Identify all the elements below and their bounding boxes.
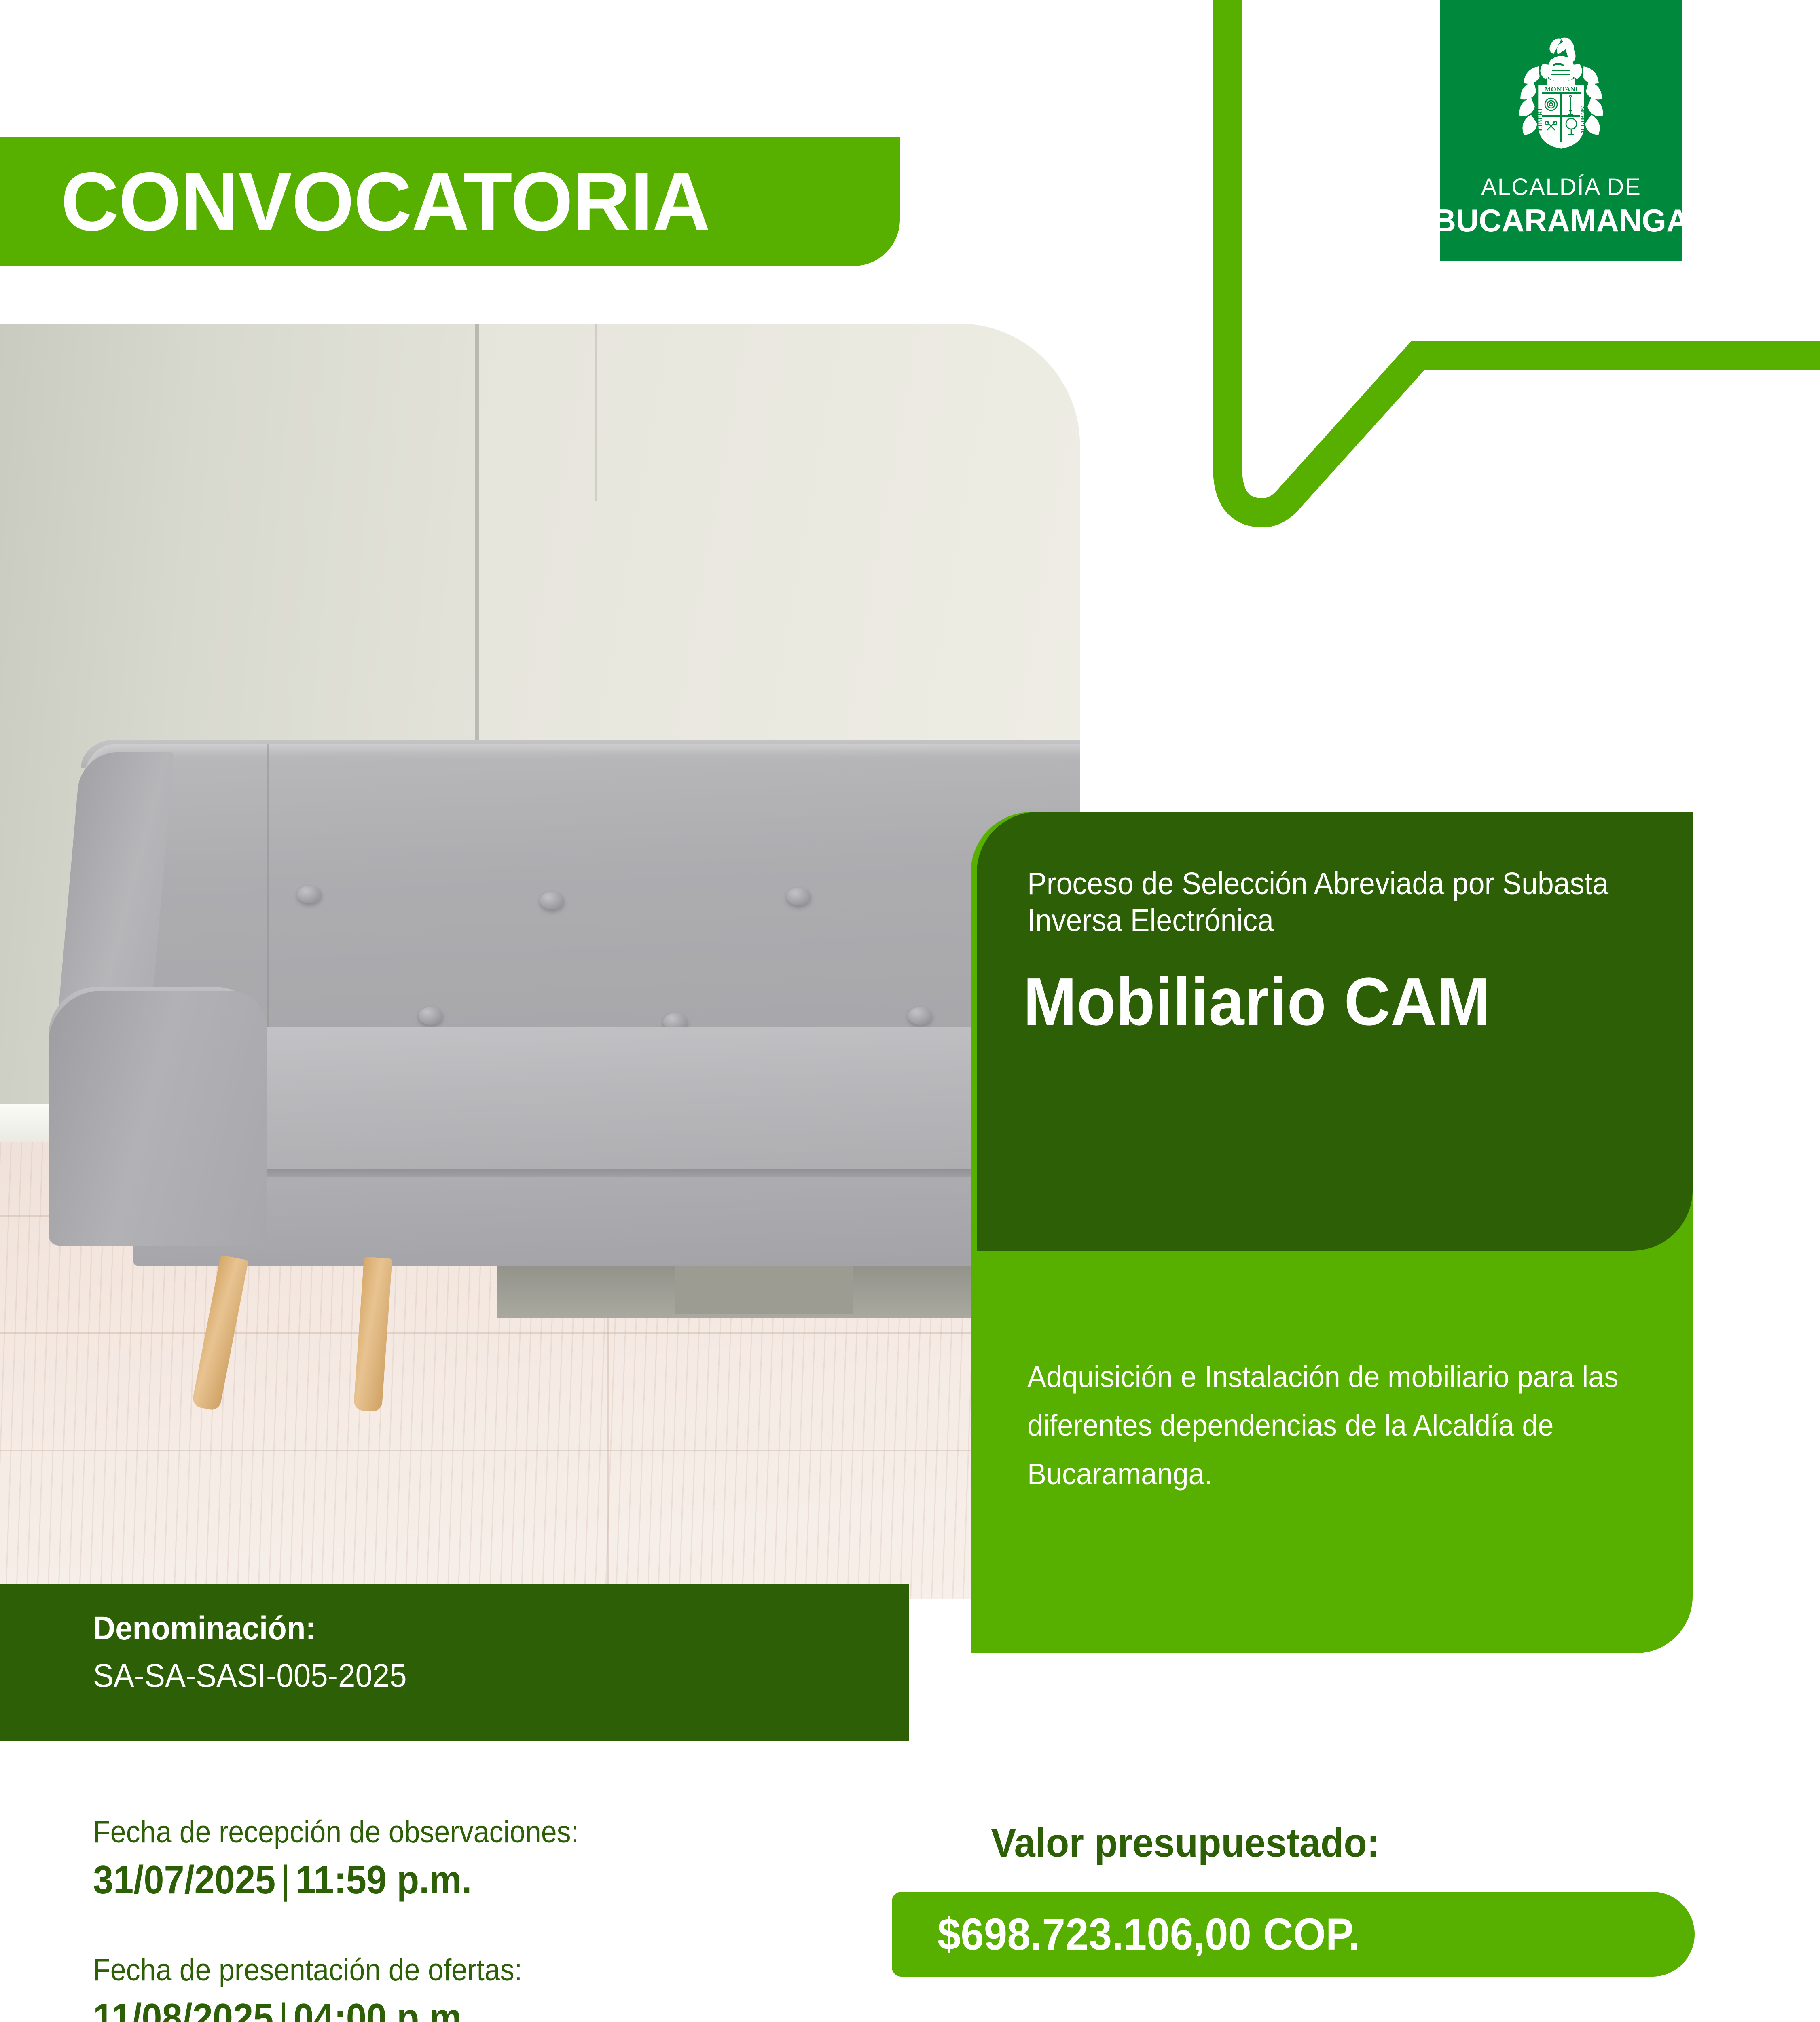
alcaldia-logo: MONTANI LIBERI SEMPER ALCALDÍA DE BUCARA… (1440, 0, 1682, 261)
observations-date-value: 31/07/2025|11:59 p.m. (93, 1856, 837, 1904)
svg-text:SEMPER: SEMPER (1579, 106, 1586, 133)
sofa-seat-cushion (170, 1027, 1080, 1185)
sofa-button (908, 1007, 932, 1025)
sofa-armrest (49, 991, 267, 1246)
coat-of-arms-icon: MONTANI LIBERI SEMPER (1494, 36, 1628, 163)
svg-text:MONTANI: MONTANI (1545, 85, 1578, 93)
sofa-button (419, 1007, 443, 1025)
observations-date: 31/07/2025 (93, 1857, 275, 1902)
offers-time: 04:00 p.m. (293, 1995, 472, 2022)
budget-value: $698.723.106,00 COP. (892, 1909, 1360, 1960)
banner-label: CONVOCATORIA (0, 154, 710, 250)
observations-time: 11:59 p.m. (295, 1857, 472, 1902)
offers-date: 11/08/2025 (93, 1995, 273, 2022)
sofa-under-shadow-2 (675, 1262, 853, 1314)
sofa-button (540, 892, 564, 909)
denomination-value: SA-SA-SASI-005-2025 (93, 1654, 852, 1698)
logo-entity-line1: ALCALDÍA DE (1481, 173, 1641, 201)
denomination-box: Denominación: SA-SA-SASI-005-2025 (0, 1584, 909, 1741)
sofa-skirt (133, 1177, 1080, 1266)
offers-date-label: Fecha de presentación de ofertas: (93, 1952, 837, 1988)
wall-seam-secondary (595, 324, 597, 501)
budget-pill: $698.723.106,00 COP. (892, 1892, 1695, 1977)
date-separator: | (275, 1857, 295, 1902)
logo-entity-line2: BUCARAMANGA (1433, 202, 1689, 239)
observations-date-label: Fecha de recepción de observaciones: (93, 1814, 837, 1851)
convocatoria-banner: CONVOCATORIA (0, 137, 900, 266)
sofa-photo (0, 324, 1080, 1599)
process-description: Adquisición e Instalación de mobiliario … (1027, 1353, 1619, 1498)
sofa-button (297, 886, 322, 903)
process-title: Mobiliario CAM (1023, 967, 1638, 1037)
sofa-button (787, 888, 811, 905)
sofa-seam (267, 744, 269, 1027)
budget-label: Valor presupuestado: (991, 1820, 1380, 1866)
dates-block: Fecha de recepción de observaciones: 31/… (93, 1814, 902, 2022)
svg-text:LIBERI: LIBERI (1537, 108, 1544, 131)
offers-date-value: 11/08/2025|04:00 p.m. (93, 1994, 837, 2022)
denomination-label: Denominación: (93, 1608, 852, 1650)
date-separator: | (273, 1995, 293, 2022)
process-type-label: Proceso de Selección Abreviada por Subas… (1027, 865, 1614, 939)
